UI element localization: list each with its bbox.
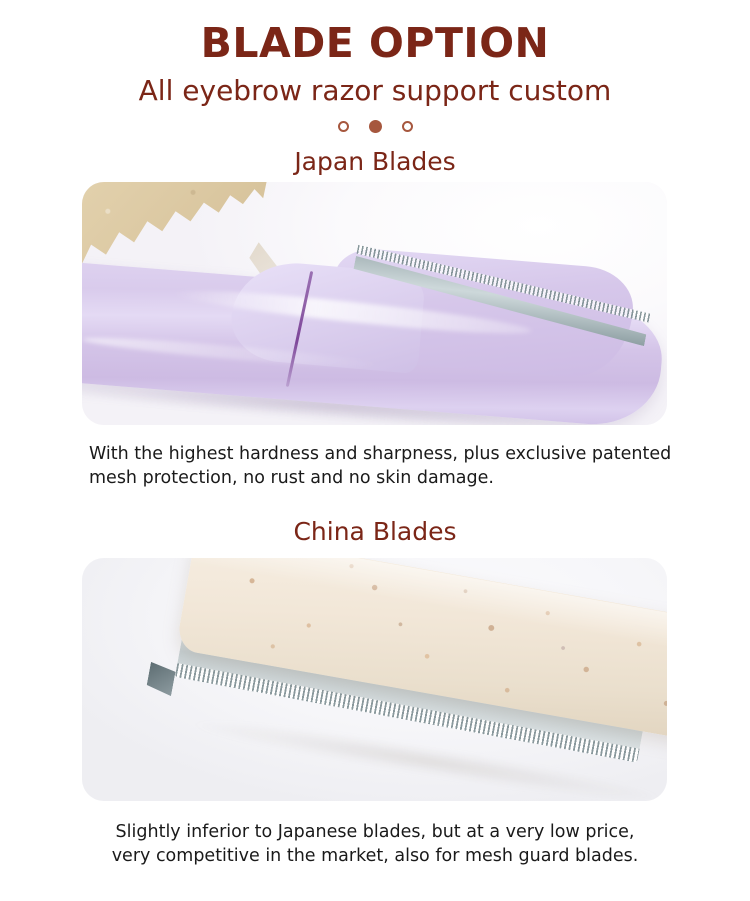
page-subtitle: All eyebrow razor support custom <box>0 74 750 108</box>
carousel-dot-1[interactable] <box>338 121 349 132</box>
carousel-dots <box>0 120 750 133</box>
product-detail-page: BLADE OPTION All eyebrow razor support c… <box>0 0 750 901</box>
product-image-china-blades <box>82 558 667 801</box>
carousel-dot-3[interactable] <box>402 121 413 132</box>
section-heading-china-blades: China Blades <box>0 517 750 547</box>
speckled-razor <box>152 572 667 801</box>
page-title: BLADE OPTION <box>0 18 750 68</box>
caption-japan-blades: With the highest hardness and sharpness,… <box>0 442 750 490</box>
carousel-dot-2-active[interactable] <box>369 120 382 133</box>
product-image-japan-blades <box>82 182 667 425</box>
section-heading-japan-blades: Japan Blades <box>0 147 750 177</box>
caption-china-blades: Slightly inferior to Japanese blades, bu… <box>0 820 750 868</box>
lavender-razor <box>82 250 667 415</box>
